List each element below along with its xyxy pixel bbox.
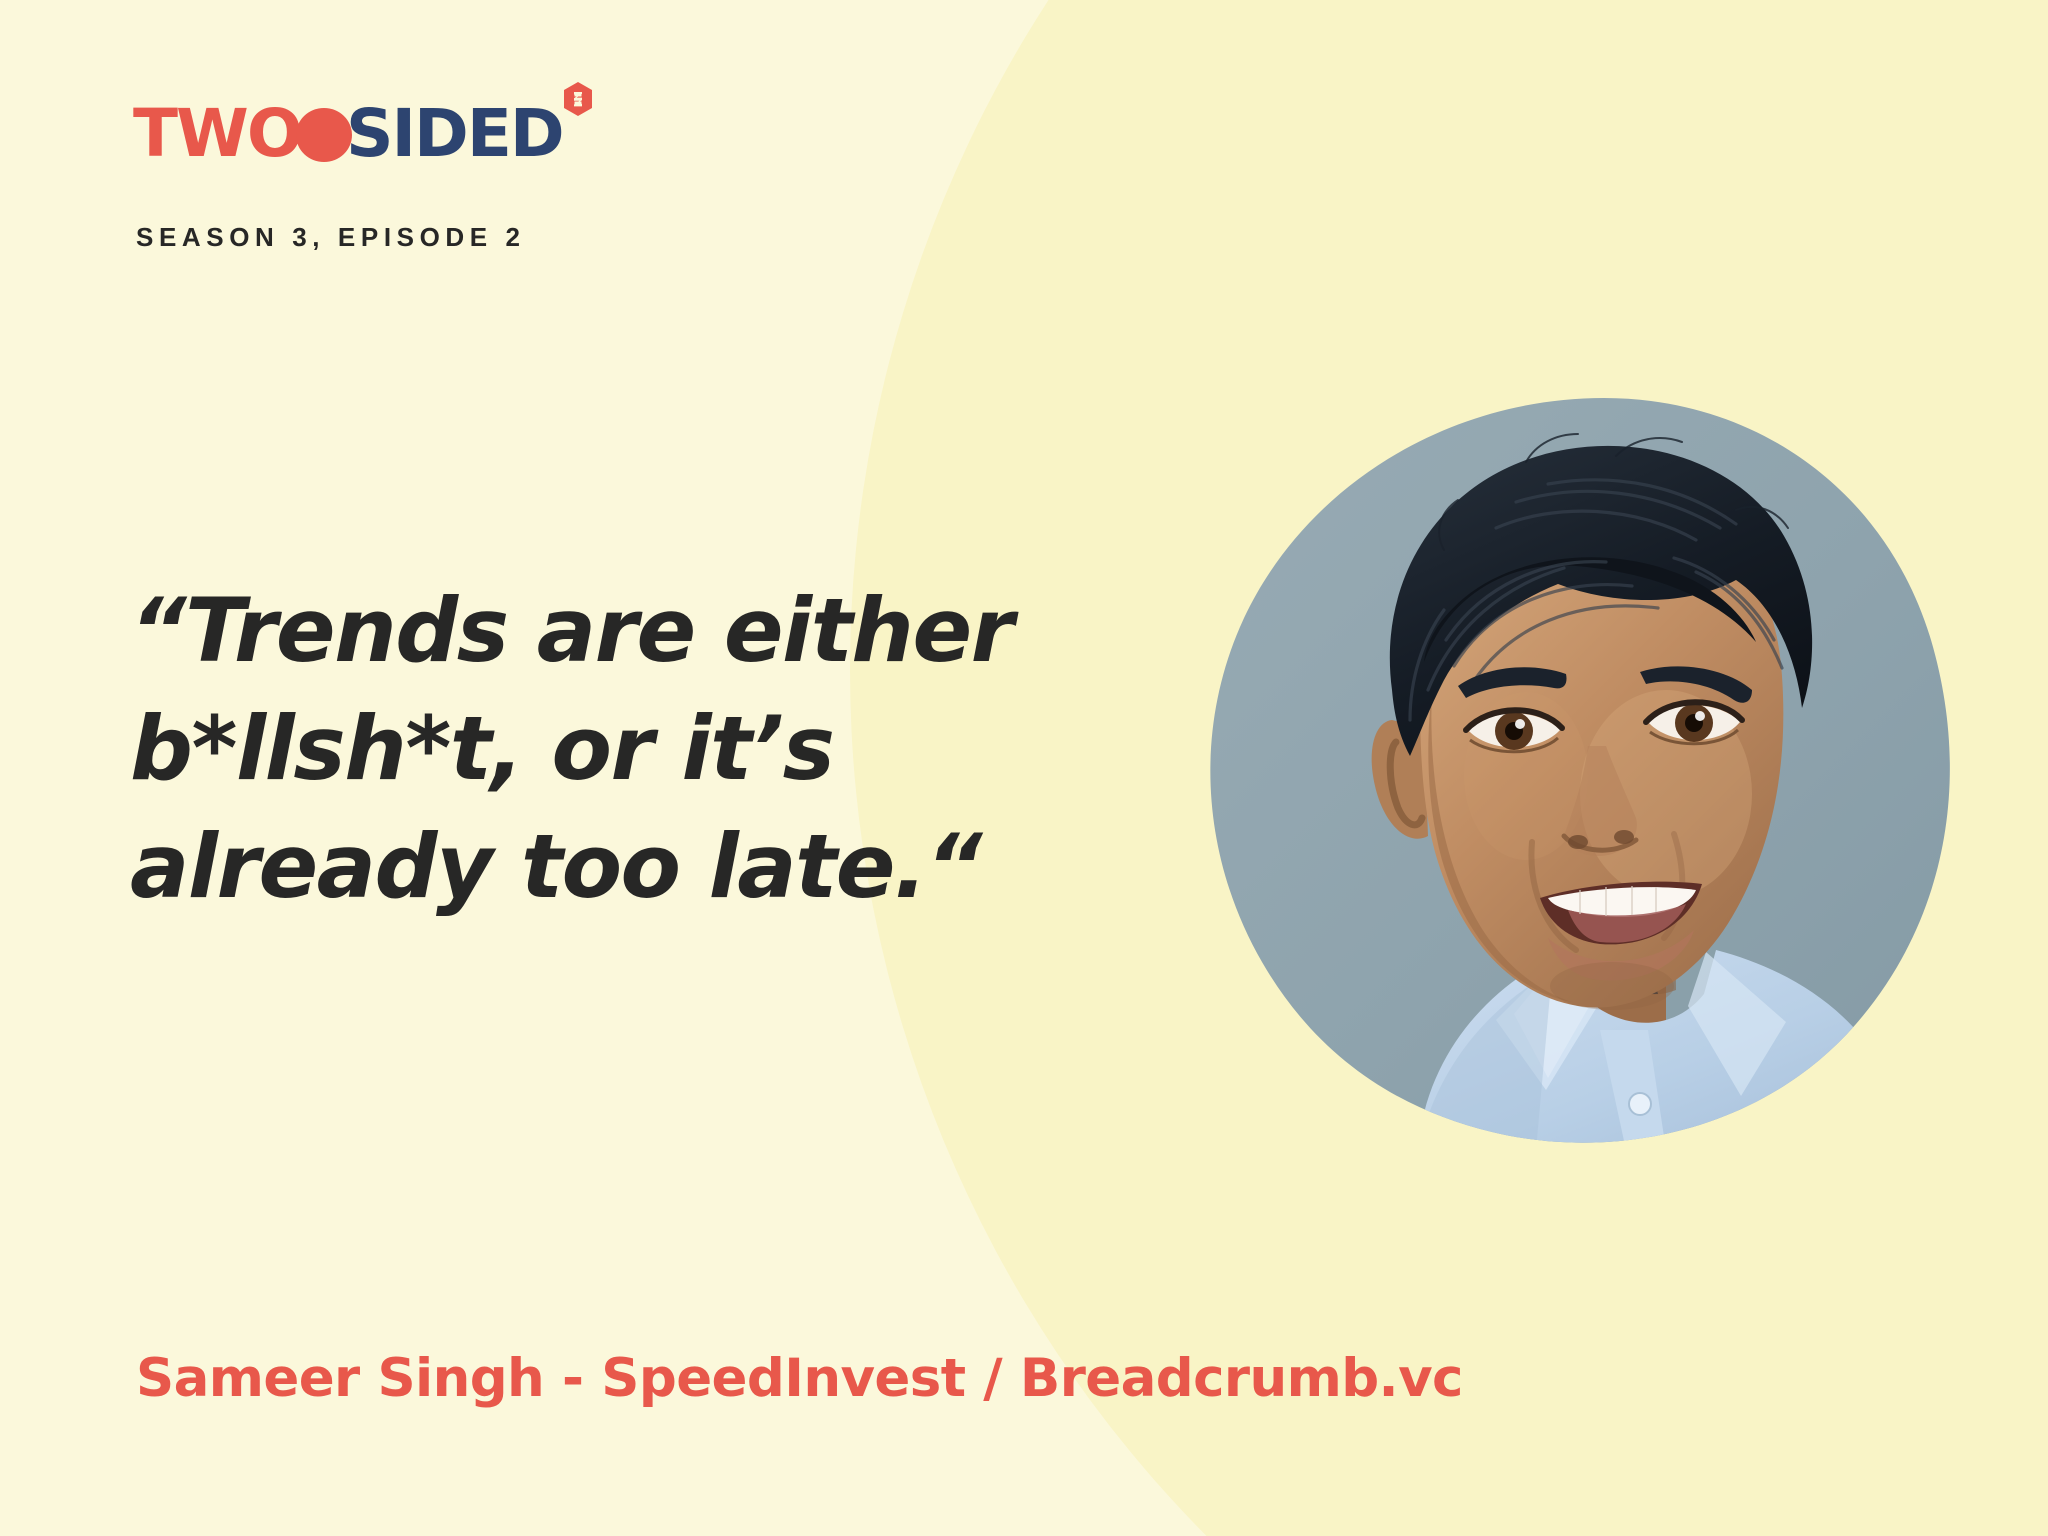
filled-circle-icon — [296, 108, 352, 162]
logo-wordmark: TWO SIDED — [133, 98, 563, 170]
quote-line-1: “Trends are either — [130, 572, 1130, 690]
brand-logo[interactable]: TWO SIDED — [133, 98, 563, 170]
guest-portrait — [1196, 390, 1956, 1150]
quote-line-3: already too late.“ — [130, 808, 1130, 926]
logo-word-two: TWO — [133, 101, 301, 167]
attribution-line: Sameer Singh - SpeedInvest / Breadcrumb.… — [136, 1348, 1463, 1409]
hexagon-badge-icon — [563, 82, 593, 116]
episode-label: SEASON 3, EPISODE 2 — [136, 222, 526, 253]
quote-line-2: b*llsh*t, or it’s — [130, 690, 1130, 808]
logo-word-sided: SIDED — [346, 101, 563, 167]
quote-text: “Trends are either b*llsh*t, or it’s alr… — [130, 572, 1130, 926]
quote-card: TWO SIDED SEASON 3, EPISODE 2 “Trends ar… — [0, 0, 2048, 1536]
